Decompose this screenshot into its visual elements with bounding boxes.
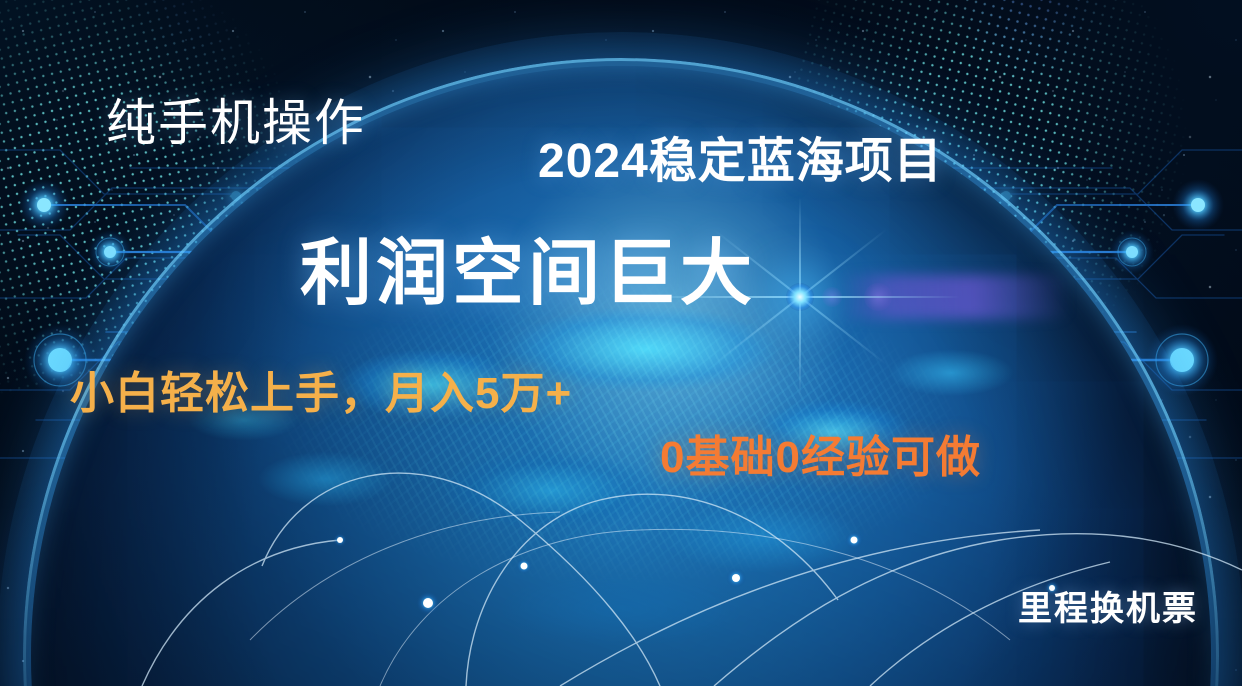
headline-zero-base: 0基础0经验可做 bbox=[660, 436, 981, 480]
headline-profit: 利润空间巨大 bbox=[300, 238, 756, 310]
headline-easy-income: 小白轻松上手，月入5万+ bbox=[70, 372, 572, 416]
headline-year-project: 2024稳定蓝海项目 bbox=[538, 138, 943, 186]
flare-core bbox=[786, 283, 814, 311]
headline-pure-mobile: 纯手机操作 bbox=[106, 98, 366, 148]
promo-banner: 纯手机操作 2024稳定蓝海项目 利润空间巨大 小白轻松上手，月入5万+ 0基础… bbox=[0, 0, 1242, 686]
headline-miles-ticket: 里程换机票 bbox=[1018, 592, 1198, 626]
